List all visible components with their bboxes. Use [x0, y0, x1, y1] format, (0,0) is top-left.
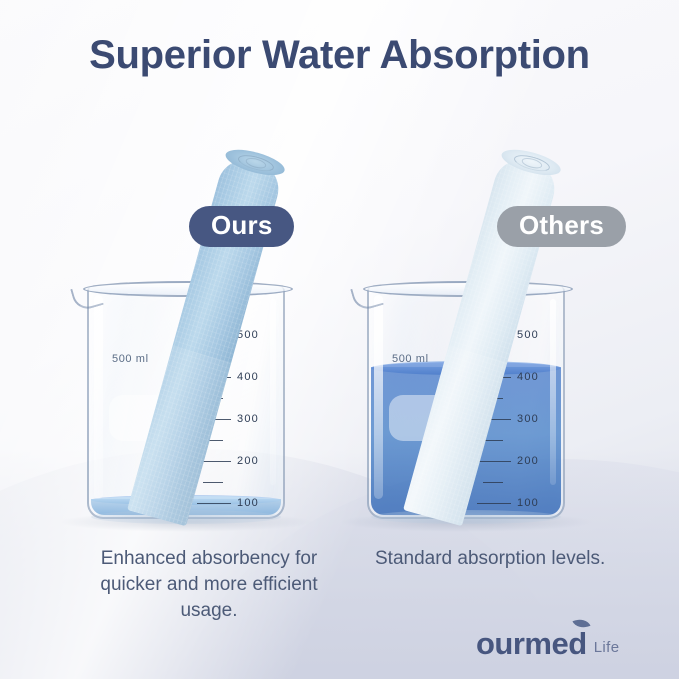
brand-name: ourmed — [476, 628, 587, 659]
caption-others: Standard absorption levels. — [375, 546, 615, 572]
beaker-capacity-label-others: 500 ml — [392, 353, 429, 365]
brand-logo: ourmed Life — [476, 628, 619, 659]
grad-label: 400 — [517, 371, 547, 383]
grad-tick — [483, 440, 503, 441]
grad-label: 100 — [517, 497, 547, 509]
glass-highlight-right-ours — [270, 299, 276, 485]
grad-label: 200 — [237, 455, 267, 467]
grad-label: 100 — [237, 497, 267, 509]
grad-label: 300 — [517, 413, 547, 425]
beaker-capacity-label-ours: 500 ml — [112, 353, 149, 365]
glass-highlight-right-others — [550, 299, 556, 485]
grad-label: 300 — [237, 413, 267, 425]
grad-tick — [483, 482, 503, 483]
beaker-base-others — [371, 510, 561, 524]
badge-others: Others — [497, 206, 626, 247]
grad-tick — [477, 461, 511, 462]
brand-tagline: Life — [594, 639, 620, 659]
glass-highlight-left-others — [374, 295, 383, 499]
glass-highlight-left-ours — [94, 295, 103, 499]
grad-label: 200 — [517, 455, 547, 467]
product-comparison-poster: Superior Water Absorption 500 ml 500 400… — [0, 0, 679, 679]
caption-ours: Enhanced absorbency for quicker and more… — [84, 546, 334, 625]
page-title: Superior Water Absorption — [0, 33, 679, 78]
grad-tick — [203, 482, 223, 483]
badge-ours: Ours — [189, 206, 294, 247]
grad-label: 500 — [237, 329, 267, 341]
grad-tick — [477, 503, 511, 504]
grad-label: 400 — [237, 371, 267, 383]
grad-label: 500 — [517, 329, 547, 341]
grad-tick — [197, 503, 231, 504]
